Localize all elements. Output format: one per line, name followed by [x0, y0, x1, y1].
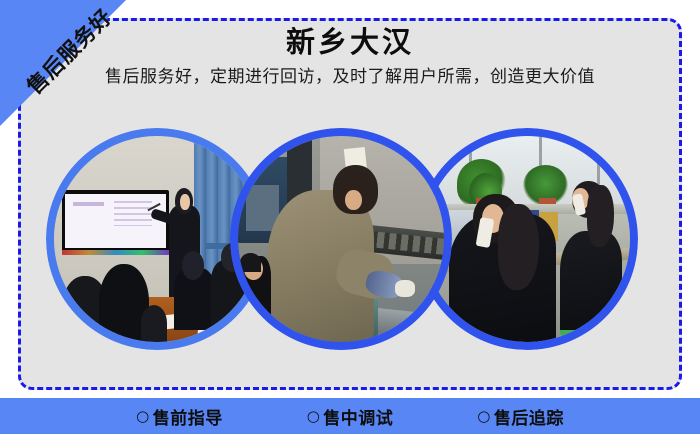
office-scene [424, 136, 630, 342]
circle-bullet-icon: ○ [477, 407, 491, 425]
footer-item-label: 售前指导 [153, 404, 223, 429]
footer-item-commissioning[interactable]: ○ 售中调试 [307, 404, 394, 429]
screen-taskbar [62, 250, 169, 256]
attendee-head [141, 305, 168, 342]
service-banner: 新乡大汉 售后服务好，定期进行回访，及时了解用户所需，创造更大价值 [0, 0, 700, 434]
work-glove [395, 280, 416, 296]
staff-hair [587, 185, 614, 247]
footer-bar: ○ 售前指导 ○ 售中调试 ○ 售后追踪 [0, 398, 700, 434]
footer-item-aftersale[interactable]: ○ 售后追踪 [477, 404, 564, 429]
bystander-hair [240, 253, 261, 272]
circle-bullet-icon: ○ [307, 407, 321, 425]
footer-item-label: 售后追踪 [494, 404, 564, 429]
photo-machine-image [238, 136, 444, 342]
screen-content [65, 194, 166, 248]
worker-ear [345, 190, 361, 211]
footer-item-presale[interactable]: ○ 售前指导 [136, 404, 223, 429]
photo-circle-machine [230, 128, 452, 350]
corner-ribbon: 售后服务好 [0, 0, 200, 200]
photo-service-call-image [424, 136, 630, 342]
circle-bullet-icon: ○ [136, 407, 150, 425]
footer-item-label: 售中调试 [323, 404, 393, 429]
machine-scene [238, 136, 444, 342]
staff-body [560, 231, 622, 330]
